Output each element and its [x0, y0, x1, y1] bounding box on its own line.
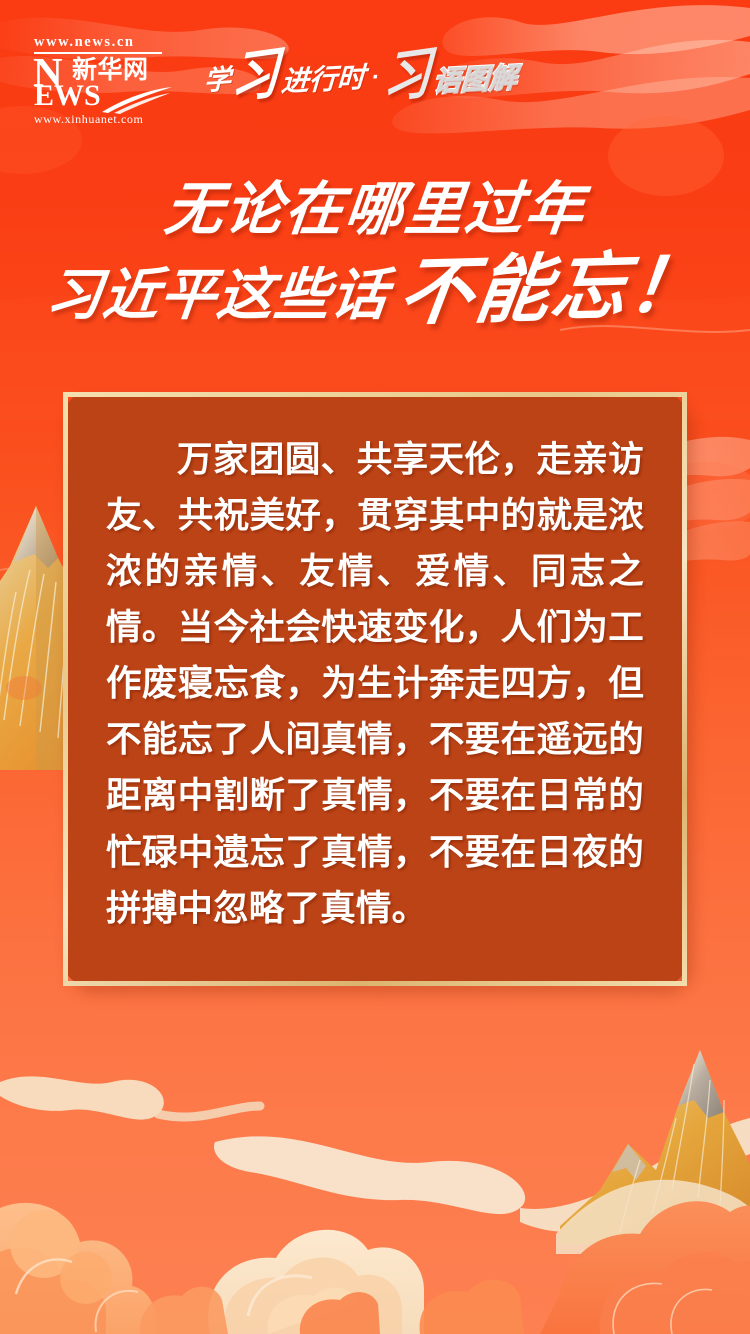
- tagline-banner[interactable]: 学 习 进行时 · 习 语图解: [204, 48, 517, 112]
- tagline-xi-brush-2: 习: [382, 46, 433, 109]
- title-line-2: 习近平这些话 不能忘！: [0, 249, 750, 332]
- tagline-jinxingshi: 进行时: [280, 64, 365, 97]
- logo-url-bottom: www.xinhuanet.com: [34, 113, 176, 125]
- tagline-separator: ·: [371, 66, 379, 90]
- bottom-clouds-decoration: [0, 994, 750, 1334]
- quote-card: 万家团圆、共享天伦，走亲访友、共祝美好，贯穿其中的就是浓浓的亲情、友情、爱情、同…: [63, 392, 687, 986]
- title-line-2-part-a: 习近平这些话: [43, 265, 392, 328]
- page-title: 无论在哪里过年 习近平这些话 不能忘！: [0, 178, 750, 332]
- title-line-2-part-b: 不能忘！: [394, 245, 710, 336]
- xinhua-logo[interactable]: www.news.cn N EWS 新华网 www.xinhuanet.com: [34, 35, 176, 126]
- tagline-xi-brush-1: 习: [230, 46, 281, 109]
- swoosh-icon: [100, 86, 174, 114]
- logo-letters-ews: EWS: [34, 84, 101, 109]
- poster-root: www.news.cn N EWS 新华网 www.xinhuanet.com …: [0, 0, 750, 1334]
- title-line-1-text: 无论在哪里过年: [162, 178, 589, 243]
- quote-card-inner: 万家团圆、共享天伦，走亲访友、共祝美好，贯穿其中的就是浓浓的亲情、友情、爱情、同…: [68, 397, 682, 981]
- title-line-1: 无论在哪里过年: [0, 178, 750, 243]
- tagline-xue: 学: [204, 66, 231, 95]
- logo-chinese-name: 新华网: [72, 57, 149, 83]
- header: www.news.cn N EWS 新华网 www.xinhuanet.com …: [0, 0, 750, 160]
- quote-text: 万家团圆、共享天伦，走亲访友、共祝美好，贯穿其中的就是浓浓的亲情、友情、爱情、同…: [106, 431, 644, 936]
- tagline-yutujie: 语图解: [432, 64, 517, 97]
- logo-mark: N EWS 新华网: [34, 56, 176, 110]
